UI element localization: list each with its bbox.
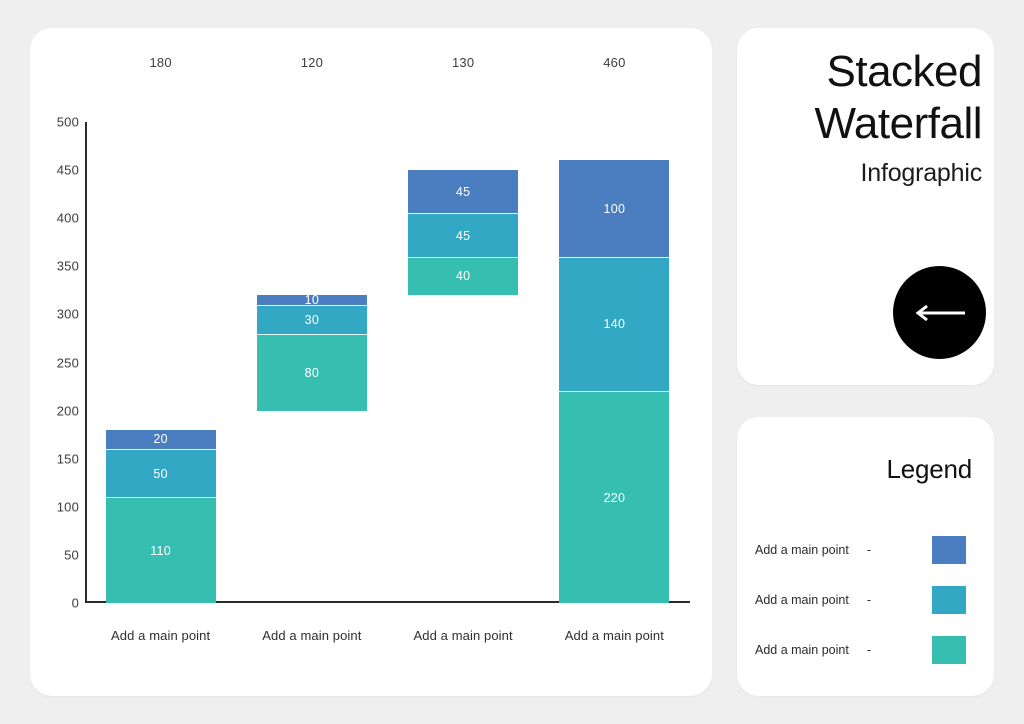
legend-color-swatch	[932, 586, 966, 614]
y-axis-tick: 150	[37, 451, 79, 466]
bar-segment[interactable]: 220	[559, 391, 669, 603]
legend-item-list: Add a main point-Add a main point-Add a …	[755, 525, 976, 675]
back-button[interactable]	[893, 266, 986, 359]
legend-color-swatch	[932, 636, 966, 664]
legend-item-separator: -	[867, 593, 885, 607]
legend-item-label: Add a main point	[755, 543, 849, 557]
bar-total-label: 460	[539, 50, 690, 76]
legend-card: Legend Add a main point-Add a main point…	[737, 417, 994, 696]
legend-color-swatch	[932, 536, 966, 564]
bar-segment-value: 45	[456, 185, 471, 199]
bar-segment-value: 100	[603, 202, 625, 216]
bar-total-label: 130	[388, 50, 539, 76]
y-axis-tick: 450	[37, 163, 79, 178]
y-axis-tick: 100	[37, 499, 79, 514]
stacked-bar[interactable]: 454540	[408, 170, 518, 295]
y-axis-tick: 250	[37, 355, 79, 370]
bar-segment[interactable]: 80	[257, 334, 367, 411]
x-axis-category-labels: Add a main pointAdd a main pointAdd a ma…	[85, 628, 690, 643]
subtitle: Infographic	[749, 156, 982, 190]
legend-item-label: Add a main point	[755, 593, 849, 607]
arrow-left-icon	[913, 303, 967, 323]
stacked-bar[interactable]: 2050110	[106, 430, 216, 603]
stacked-bar[interactable]: 103080	[257, 295, 367, 410]
bar-segment-value: 40	[456, 269, 471, 283]
bar-segment[interactable]: 110	[106, 497, 216, 603]
legend-item-separator: -	[867, 643, 885, 657]
x-axis-label: Add a main point	[85, 628, 236, 643]
bar-segment-value: 80	[305, 366, 320, 380]
x-axis-label: Add a main point	[236, 628, 387, 643]
bar-slot: 454540	[388, 122, 539, 603]
bar-slot: 2050110	[85, 122, 236, 603]
y-axis-tick: 500	[37, 115, 79, 130]
bar-segment[interactable]: 40	[408, 257, 518, 295]
title-line-1: Stacked	[749, 46, 982, 98]
stacked-bar[interactable]: 100140220	[559, 160, 669, 603]
legend-item[interactable]: Add a main point-	[755, 575, 976, 625]
bar-segment[interactable]: 140	[559, 257, 669, 392]
bar-group: 2050110103080454540100140220	[85, 122, 690, 603]
legend-item-label: Add a main point	[755, 643, 849, 657]
legend-heading: Legend	[886, 454, 972, 485]
y-axis-tick: 0	[37, 596, 79, 611]
bar-total-labels: 180120130460	[85, 50, 690, 76]
bar-segment[interactable]: 50	[106, 449, 216, 497]
bar-total-label: 180	[85, 50, 236, 76]
bar-segment-value: 30	[305, 313, 320, 327]
legend-item[interactable]: Add a main point-	[755, 625, 976, 675]
x-axis-label: Add a main point	[388, 628, 539, 643]
slide-canvas: 180120130460 500450400350300250200150100…	[0, 0, 1024, 724]
y-axis-tick: 200	[37, 403, 79, 418]
bar-segment[interactable]: 30	[257, 305, 367, 334]
bar-segment-value: 110	[150, 544, 171, 558]
bar-slot: 100140220	[539, 122, 690, 603]
y-axis-tick-labels: 500450400350300250200150100500	[37, 122, 79, 603]
legend-item-separator: -	[867, 543, 885, 557]
bar-segment-value: 220	[603, 491, 625, 505]
bar-total-label: 120	[236, 50, 387, 76]
y-axis-tick: 350	[37, 259, 79, 274]
chart-card: 180120130460 500450400350300250200150100…	[30, 28, 712, 696]
title-line-2: Waterfall	[749, 98, 982, 150]
bar-segment[interactable]: 20	[106, 430, 216, 449]
bar-segment-value: 45	[456, 229, 471, 243]
chart-plot-area: 500450400350300250200150100500 205011010…	[85, 122, 690, 603]
x-axis-label: Add a main point	[539, 628, 690, 643]
y-axis-tick: 50	[37, 547, 79, 562]
title-block: Stacked Waterfall Infographic	[749, 46, 982, 190]
bar-slot: 103080	[236, 122, 387, 603]
bar-segment-value: 140	[603, 317, 625, 331]
bar-segment[interactable]: 45	[408, 213, 518, 256]
y-axis-tick: 400	[37, 211, 79, 226]
legend-item[interactable]: Add a main point-	[755, 525, 976, 575]
y-axis-tick: 300	[37, 307, 79, 322]
bar-segment[interactable]: 100	[559, 160, 669, 256]
title-card: Stacked Waterfall Infographic	[737, 28, 994, 385]
bar-segment[interactable]: 10	[257, 295, 367, 305]
bar-segment-value: 20	[153, 432, 168, 446]
bar-segment[interactable]: 45	[408, 170, 518, 213]
bar-segment-value: 50	[153, 467, 168, 481]
